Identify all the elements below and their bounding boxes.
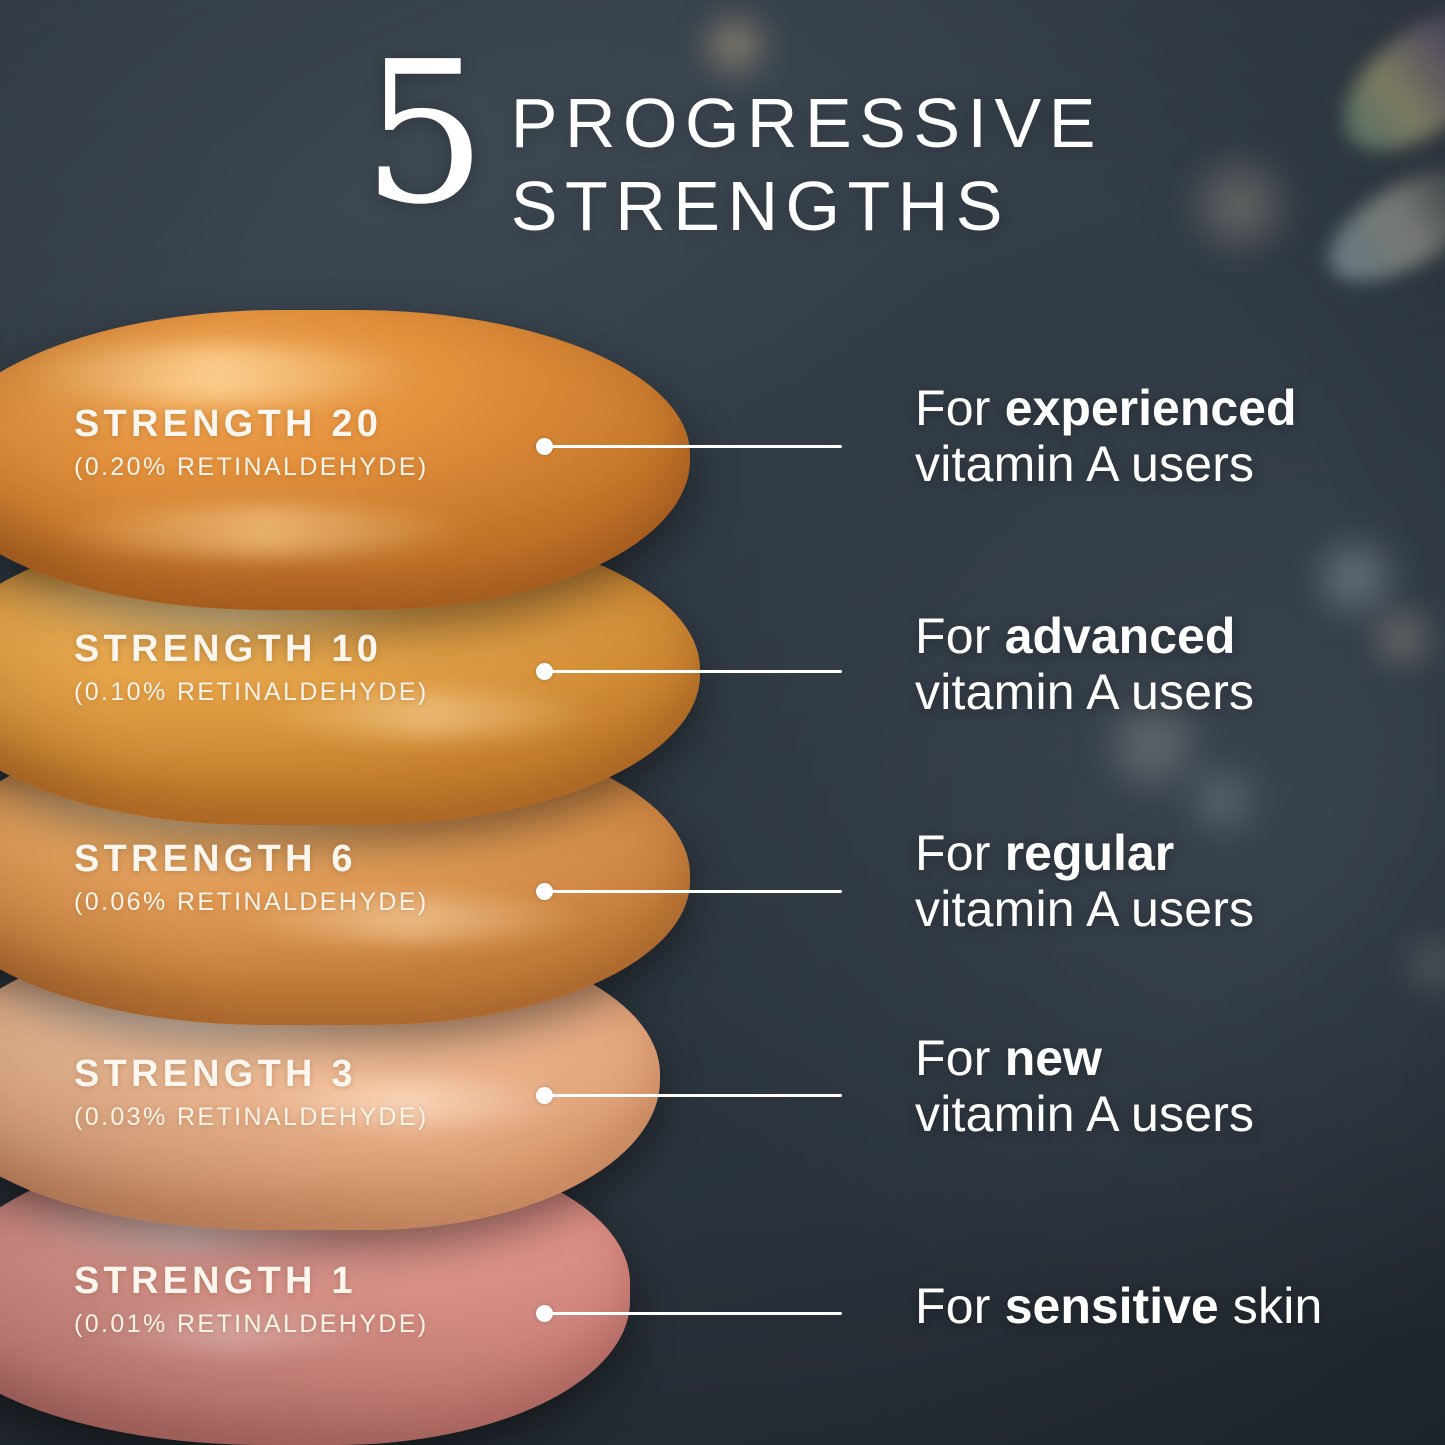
strength-label-3: STRENGTH 3 (0.03% RETINALDEHYDE)	[74, 1055, 429, 1130]
description-line-2: vitamin A users	[915, 1086, 1254, 1142]
strength-concentration: (0.01% RETINALDEHYDE)	[74, 1312, 429, 1337]
strength-label-6: STRENGTH 6 (0.06% RETINALDEHYDE)	[74, 840, 429, 915]
strength-concentration: (0.10% RETINALDEHYDE)	[74, 680, 429, 705]
description-prefix: For	[915, 1278, 1005, 1334]
infographic-page: 5 PROGRESSIVE STRENGTHS STRENGTH 20 (0.2…	[0, 0, 1445, 1445]
strength-title: STRENGTH 20	[74, 405, 429, 443]
strength-title: STRENGTH 1	[74, 1262, 429, 1300]
headline-title: PROGRESSIVE STRENGTHS	[511, 82, 1103, 247]
description-line-1: For new	[915, 1030, 1254, 1086]
description-line-1: For regular	[915, 825, 1254, 881]
description-line-1: For experienced	[915, 380, 1297, 436]
description-highlight: regular	[1005, 825, 1175, 881]
description-line-2: vitamin A users	[915, 664, 1254, 720]
description-line-2: vitamin A users	[915, 881, 1254, 937]
page-header: 5 PROGRESSIVE STRENGTHS	[0, 58, 1445, 247]
description-highlight: sensitive	[1005, 1278, 1219, 1334]
description-prefix: For	[915, 1030, 1005, 1086]
strength-concentration: (0.20% RETINALDEHYDE)	[74, 455, 429, 480]
description-prefix: For	[915, 825, 1005, 881]
headline-number: 5	[362, 52, 485, 217]
description-prefix: For	[915, 380, 1005, 436]
description-3: For new vitamin A users	[915, 1030, 1254, 1142]
description-20: For experienced vitamin A users	[915, 380, 1297, 492]
strength-label-20: STRENGTH 20 (0.20% RETINALDEHYDE)	[74, 405, 429, 480]
strength-concentration: (0.03% RETINALDEHYDE)	[74, 1105, 429, 1130]
description-6: For regular vitamin A users	[915, 825, 1254, 937]
description-prefix: For	[915, 608, 1005, 664]
description-highlight: new	[1005, 1030, 1102, 1086]
strength-label-1: STRENGTH 1 (0.01% RETINALDEHYDE)	[74, 1262, 429, 1337]
strength-title: STRENGTH 6	[74, 840, 429, 878]
strength-title: STRENGTH 10	[74, 630, 429, 668]
description-highlight: advanced	[1005, 608, 1236, 664]
description-line-1: For sensitive skin	[915, 1278, 1323, 1334]
description-line-2: vitamin A users	[915, 436, 1297, 492]
description-suffix: skin	[1219, 1278, 1323, 1334]
headline-line-2: STRENGTHS	[511, 165, 1103, 248]
description-1: For sensitive skin	[915, 1278, 1323, 1334]
strength-concentration: (0.06% RETINALDEHYDE)	[74, 890, 429, 915]
strength-title: STRENGTH 3	[74, 1055, 429, 1093]
strength-label-10: STRENGTH 10 (0.10% RETINALDEHYDE)	[74, 630, 429, 705]
description-10: For advanced vitamin A users	[915, 608, 1254, 720]
headline-line-1: PROGRESSIVE	[511, 82, 1103, 165]
description-line-1: For advanced	[915, 608, 1254, 664]
description-highlight: experienced	[1005, 380, 1297, 436]
